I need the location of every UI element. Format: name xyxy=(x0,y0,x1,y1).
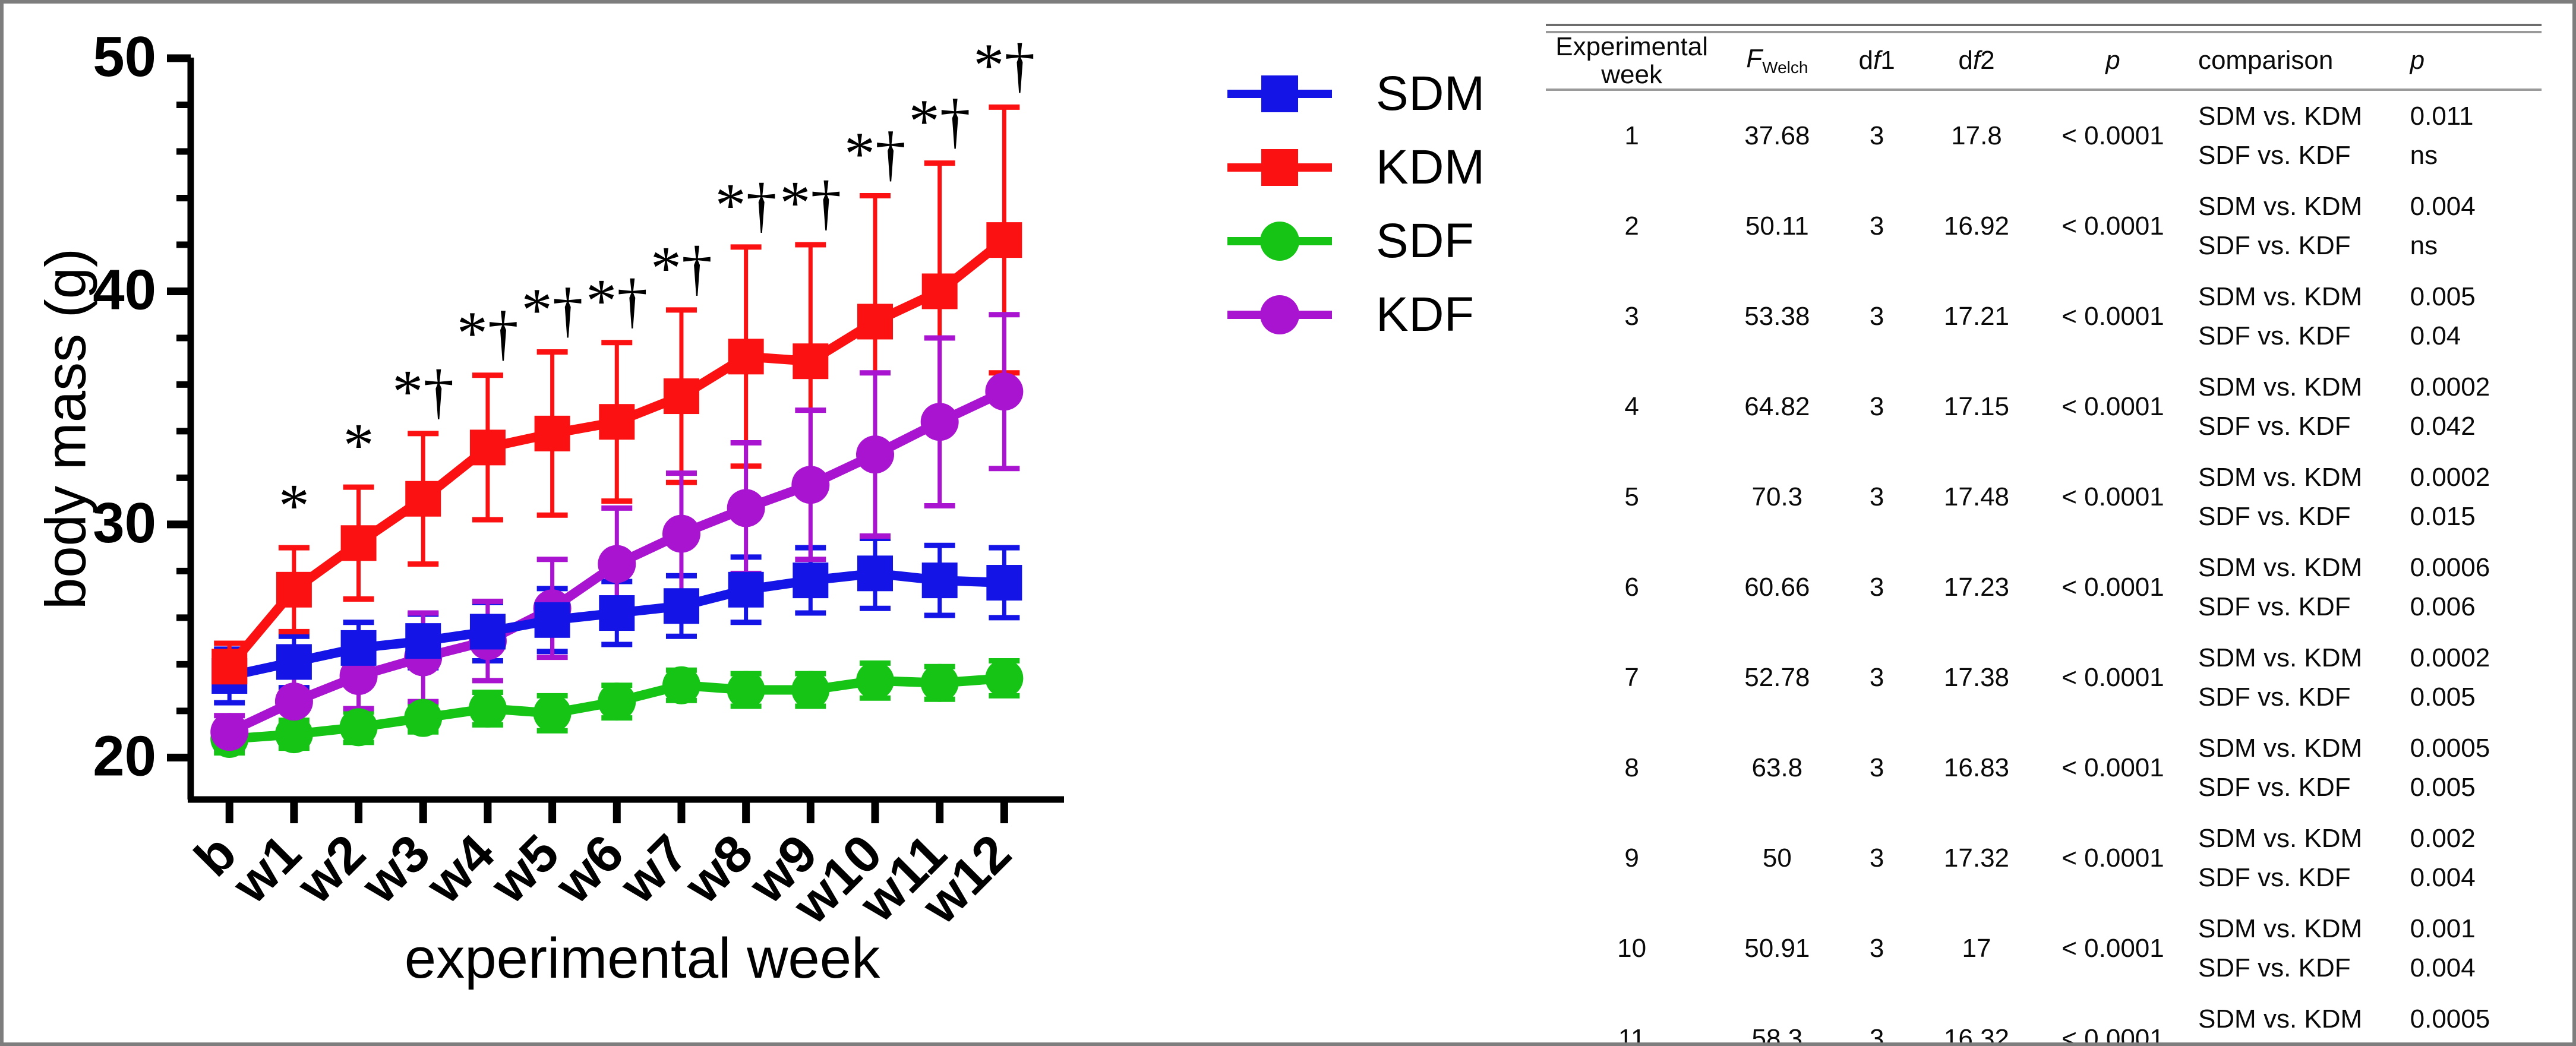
cell-comparison: SDM vs. KDMSDF vs. KDF xyxy=(2190,542,2404,633)
significance-marker: *† xyxy=(909,87,971,156)
th-df2: df2 xyxy=(1917,32,2036,90)
cell-p-posthoc: 0.0050.04 xyxy=(2404,271,2542,362)
cell-f-welch: 52.78 xyxy=(1718,633,1836,723)
x-axis-title: experimental week xyxy=(405,927,880,990)
cell-p-omnibus: < 0.0001 xyxy=(2036,903,2190,994)
legend-label-sdf: SDF xyxy=(1376,213,1475,269)
marker-circle xyxy=(856,435,894,473)
cell-f-welch: 64.82 xyxy=(1718,362,1836,452)
table-row: 250.11316.92< 0.0001SDM vs. KDMSDF vs. K… xyxy=(1546,181,2542,271)
th-f-welch: FWelch xyxy=(1718,32,1836,90)
legend-marker-kdm xyxy=(1227,148,1332,187)
marker-square xyxy=(535,602,570,638)
cell-df1: 3 xyxy=(1836,994,1917,1046)
cell-df2: 17.48 xyxy=(1917,452,2036,542)
cell-comparison: SDM vs. KDMSDF vs. KDF xyxy=(2190,633,2404,723)
cell-df1: 3 xyxy=(1836,271,1917,362)
cell-df1: 3 xyxy=(1836,452,1917,542)
marker-circle xyxy=(404,699,442,737)
y-axis-title: body mass (g) xyxy=(34,248,97,609)
cell-p-omnibus: < 0.0001 xyxy=(2036,723,2190,813)
marker-square xyxy=(793,343,828,379)
cell-comparison: SDM vs. KDMSDF vs. KDF xyxy=(2190,362,2404,452)
cell-week: 6 xyxy=(1546,542,1718,633)
marker-circle xyxy=(662,666,700,704)
cell-df1: 3 xyxy=(1836,362,1917,452)
y-tick-label: 40 xyxy=(93,258,156,321)
cell-comparison: SDM vs. KDMSDF vs. KDF xyxy=(2190,903,2404,994)
th-df1: df1 xyxy=(1836,32,1917,90)
cell-week: 3 xyxy=(1546,271,1718,362)
marker-square xyxy=(341,630,377,666)
significance-marker: *† xyxy=(586,267,648,335)
marker-circle xyxy=(210,713,248,751)
significance-marker: *† xyxy=(779,169,841,237)
legend-item-sdm: SDM xyxy=(1227,57,1485,131)
marker-square xyxy=(793,562,828,598)
marker-circle xyxy=(662,515,700,553)
cell-df2: 17.38 xyxy=(1917,633,2036,723)
cell-df2: 16.32 xyxy=(1917,994,2036,1046)
marker-circle xyxy=(856,662,894,700)
cell-p-posthoc: 0.00020.005 xyxy=(2404,633,2542,723)
marker-square xyxy=(728,339,764,374)
y-tick-label: 30 xyxy=(93,491,156,555)
chart-legend: SDM KDM SDF KDF xyxy=(1227,57,1485,352)
cell-comparison: SDM vs. KDMSDF vs. KDF xyxy=(2190,723,2404,813)
cell-week: 7 xyxy=(1546,633,1718,723)
legend-label-sdm: SDM xyxy=(1376,66,1485,122)
marker-square xyxy=(405,481,441,517)
marker-square xyxy=(535,416,570,451)
cell-week: 11 xyxy=(1546,994,1718,1046)
y-axis-title-group: body mass (g) xyxy=(34,248,97,609)
cell-df2: 17.32 xyxy=(1917,813,2036,903)
cell-comparison: SDM vs. KDMSDF vs. KDF xyxy=(2190,994,2404,1046)
y-tick-label: 50 xyxy=(93,25,156,89)
marker-circle xyxy=(727,671,765,709)
marker-square xyxy=(664,378,699,414)
cell-df1: 3 xyxy=(1836,181,1917,271)
table-row: 1050.91317< 0.0001SDM vs. KDMSDF vs. KDF… xyxy=(1546,903,2542,994)
significance-marker: *† xyxy=(457,299,519,368)
cell-df1: 3 xyxy=(1836,90,1917,181)
stats-table: Experimental week FWelch df1 df2 p compa… xyxy=(1546,24,2542,1046)
cell-comparison: SDM vs. KDMSDF vs. KDF xyxy=(2190,271,2404,362)
table-row: 570.3317.48< 0.0001SDM vs. KDMSDF vs. KD… xyxy=(1546,452,2542,542)
significance-marker: *† xyxy=(973,31,1035,99)
significance-marker: *† xyxy=(522,276,583,344)
cell-p-omnibus: < 0.0001 xyxy=(2036,271,2190,362)
cell-p-omnibus: < 0.0001 xyxy=(2036,633,2190,723)
cell-p-posthoc: 0.00050.002 xyxy=(2404,994,2542,1046)
marker-square xyxy=(470,429,506,465)
marker-circle xyxy=(469,690,507,728)
marker-square xyxy=(341,525,377,561)
cell-f-welch: 60.66 xyxy=(1718,542,1836,633)
cell-f-welch: 37.68 xyxy=(1718,90,1836,181)
significance-marker: * xyxy=(343,411,374,479)
marker-square xyxy=(728,572,764,608)
cell-week: 2 xyxy=(1546,181,1718,271)
cell-week: 9 xyxy=(1546,813,1718,903)
marker-circle xyxy=(275,682,313,720)
marker-square xyxy=(599,404,634,440)
marker-square xyxy=(211,649,247,684)
cell-f-welch: 53.38 xyxy=(1718,271,1836,362)
table-row: 863.8316.83< 0.0001SDM vs. KDMSDF vs. KD… xyxy=(1546,723,2542,813)
th-p-omnibus: p xyxy=(2036,32,2190,90)
cell-p-omnibus: < 0.0001 xyxy=(2036,181,2190,271)
figure-panel: 20304050bw1w2w3w4w5w6w7w8w9w10w11w12body… xyxy=(0,0,2576,1046)
th-p-posthoc: p xyxy=(2404,32,2542,90)
marker-square xyxy=(922,562,958,598)
legend-label-kdm: KDM xyxy=(1376,140,1485,195)
table-row: 1158.3316.32< 0.0001SDM vs. KDMSDF vs. K… xyxy=(1546,994,2542,1046)
cell-p-omnibus: < 0.0001 xyxy=(2036,452,2190,542)
marker-square xyxy=(922,273,958,309)
table-header-row: Experimental week FWelch df1 df2 p compa… xyxy=(1546,32,2542,90)
cell-f-welch: 58.3 xyxy=(1718,994,1836,1046)
cell-comparison: SDM vs. KDMSDF vs. KDF xyxy=(2190,813,2404,903)
marker-square xyxy=(664,588,699,624)
significance-marker: *† xyxy=(715,171,777,239)
cell-df1: 3 xyxy=(1836,903,1917,994)
legend-item-kdf: KDF xyxy=(1227,278,1485,352)
cell-df1: 3 xyxy=(1836,542,1917,633)
cell-comparison: SDM vs. KDMSDF vs. KDF xyxy=(2190,181,2404,271)
cell-p-posthoc: 0.00020.015 xyxy=(2404,452,2542,542)
table-row: 950317.32< 0.0001SDM vs. KDMSDF vs. KDF0… xyxy=(1546,813,2542,903)
cell-week: 10 xyxy=(1546,903,1718,994)
marker-square xyxy=(405,623,441,659)
cell-df2: 16.92 xyxy=(1917,181,2036,271)
marker-circle xyxy=(598,545,636,583)
cell-df2: 17.23 xyxy=(1917,542,2036,633)
table-row: 464.82317.15< 0.0001SDM vs. KDMSDF vs. K… xyxy=(1546,362,2542,452)
legend-marker-sdf xyxy=(1227,222,1332,260)
marker-circle xyxy=(598,682,636,720)
significance-marker: *† xyxy=(392,358,454,426)
cell-df2: 17.8 xyxy=(1917,90,2036,181)
series-markers-sdf xyxy=(210,659,1023,758)
marker-square xyxy=(470,614,506,649)
cell-p-omnibus: < 0.0001 xyxy=(2036,813,2190,903)
cell-comparison: SDM vs. KDMSDF vs. KDF xyxy=(2190,90,2404,181)
legend-item-sdf: SDF xyxy=(1227,204,1485,278)
cell-df2: 17.15 xyxy=(1917,362,2036,452)
cell-df1: 3 xyxy=(1836,633,1917,723)
marker-circle xyxy=(985,659,1023,697)
marker-square xyxy=(276,644,312,680)
cell-comparison: SDM vs. KDMSDF vs. KDF xyxy=(2190,452,2404,542)
cell-p-omnibus: < 0.0001 xyxy=(2036,90,2190,181)
cell-f-welch: 50 xyxy=(1718,813,1836,903)
cell-week: 4 xyxy=(1546,362,1718,452)
cell-df1: 3 xyxy=(1836,813,1917,903)
marker-circle xyxy=(533,694,572,732)
stats-table-container: Experimental week FWelch df1 df2 p compa… xyxy=(1546,24,2556,1046)
marker-square xyxy=(986,222,1022,258)
cell-p-posthoc: 0.0020.004 xyxy=(2404,813,2542,903)
marker-square xyxy=(857,555,893,591)
cell-p-posthoc: 0.011ns xyxy=(2404,90,2542,181)
legend-marker-kdf xyxy=(1227,296,1332,334)
table-row: 137.68317.8< 0.0001SDM vs. KDMSDF vs. KD… xyxy=(1546,90,2542,181)
cell-df2: 17 xyxy=(1917,903,2036,994)
cell-week: 5 xyxy=(1546,452,1718,542)
cell-p-omnibus: < 0.0001 xyxy=(2036,994,2190,1046)
cell-p-posthoc: 0.00050.005 xyxy=(2404,723,2542,813)
significance-marker: *† xyxy=(651,234,712,302)
marker-circle xyxy=(791,671,829,709)
marker-circle xyxy=(985,372,1023,410)
marker-circle xyxy=(921,403,959,441)
y-tick-label: 20 xyxy=(93,724,156,788)
cell-p-omnibus: < 0.0001 xyxy=(2036,542,2190,633)
cell-p-omnibus: < 0.0001 xyxy=(2036,362,2190,452)
marker-square xyxy=(986,565,1022,601)
cell-f-welch: 70.3 xyxy=(1718,452,1836,542)
cell-f-welch: 50.11 xyxy=(1718,181,1836,271)
significance-marker: *† xyxy=(844,120,906,188)
marker-square xyxy=(276,572,312,608)
cell-df1: 3 xyxy=(1836,723,1917,813)
cell-week: 8 xyxy=(1546,723,1718,813)
marker-square xyxy=(599,595,634,631)
cell-df2: 16.83 xyxy=(1917,723,2036,813)
legend-marker-sdm xyxy=(1227,75,1332,113)
significance-marker: * xyxy=(279,472,310,540)
th-experimental-week: Experimental week xyxy=(1546,32,1718,90)
table-row: 353.38317.21< 0.0001SDM vs. KDMSDF vs. K… xyxy=(1546,271,2542,362)
cell-p-posthoc: 0.00020.042 xyxy=(2404,362,2542,452)
table-row: 660.66317.23< 0.0001SDM vs. KDMSDF vs. K… xyxy=(1546,542,2542,633)
marker-circle xyxy=(921,664,959,702)
marker-square xyxy=(857,304,893,339)
th-comparison: comparison xyxy=(2190,32,2404,90)
cell-p-posthoc: 0.00060.006 xyxy=(2404,542,2542,633)
cell-p-posthoc: 0.0010.004 xyxy=(2404,903,2542,994)
table-row: 752.78317.38< 0.0001SDM vs. KDMSDF vs. K… xyxy=(1546,633,2542,723)
cell-f-welch: 50.91 xyxy=(1718,903,1836,994)
legend-item-kdm: KDM xyxy=(1227,131,1485,204)
cell-week: 1 xyxy=(1546,90,1718,181)
cell-df2: 17.21 xyxy=(1917,271,2036,362)
marker-circle xyxy=(340,708,378,746)
cell-f-welch: 63.8 xyxy=(1718,723,1836,813)
figure-inner: 20304050bw1w2w3w4w5w6w7w8w9w10w11w12body… xyxy=(4,4,2572,1042)
marker-circle xyxy=(275,715,313,753)
legend-label-kdf: KDF xyxy=(1376,287,1475,343)
cell-p-posthoc: 0.004ns xyxy=(2404,181,2542,271)
marker-circle xyxy=(727,489,765,527)
marker-circle xyxy=(791,466,829,504)
